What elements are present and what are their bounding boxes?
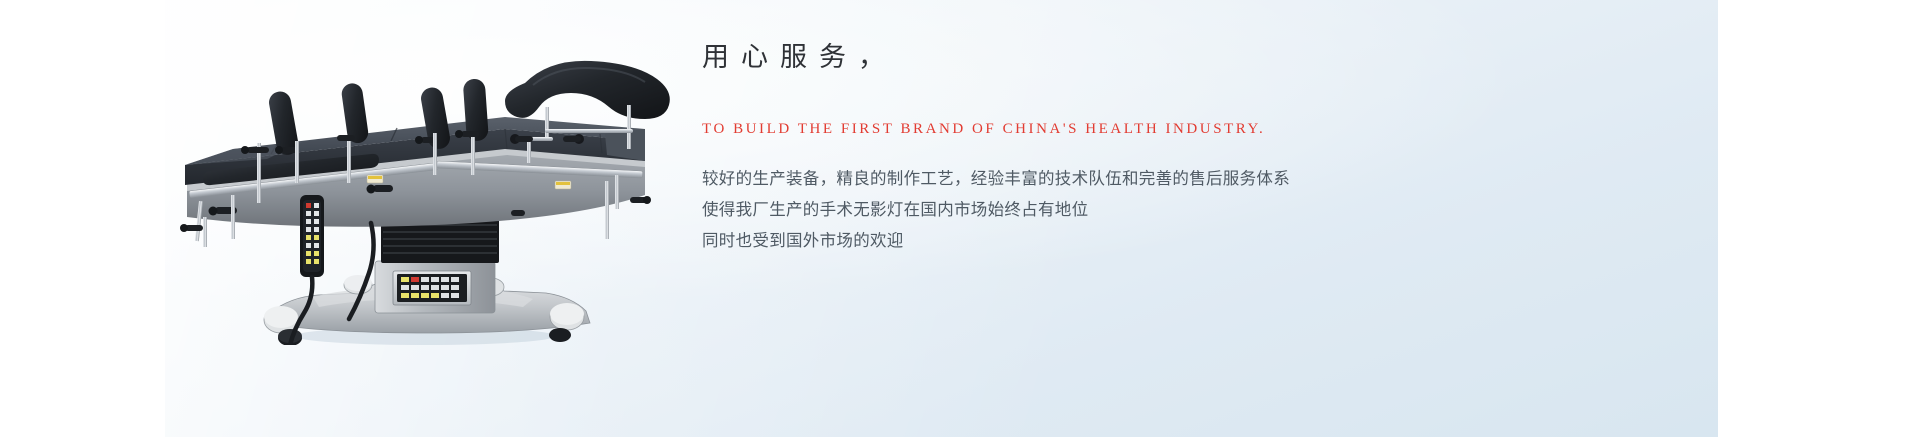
base-keypad-panel <box>393 271 471 305</box>
banner-copy: 用心服务， TO BUILD THE FIRST BRAND OF CHINA'… <box>702 44 1662 256</box>
description-line-3: 同时也受到国外市场的欢迎 <box>702 225 1662 256</box>
description-line-2: 使得我厂生产的手术无影灯在国内市场始终占有地位 <box>702 194 1662 225</box>
tagline-english: TO BUILD THE FIRST BRAND OF CHINA'S HEAL… <box>702 122 1662 137</box>
description-paragraph: 较好的生产装备，精良的制作工艺，经验丰富的技术队伍和完善的售后服务体系 使得我厂… <box>702 163 1662 256</box>
page-title: 用心服务， <box>702 44 1662 71</box>
operating-table-image <box>175 55 695 345</box>
description-line-1: 较好的生产装备，精良的制作工艺，经验丰富的技术队伍和完善的售后服务体系 <box>702 163 1662 194</box>
promo-banner: 用心服务， TO BUILD THE FIRST BRAND OF CHINA'… <box>165 0 1718 437</box>
banner-stage: 用心服务， TO BUILD THE FIRST BRAND OF CHINA'… <box>0 0 1920 437</box>
